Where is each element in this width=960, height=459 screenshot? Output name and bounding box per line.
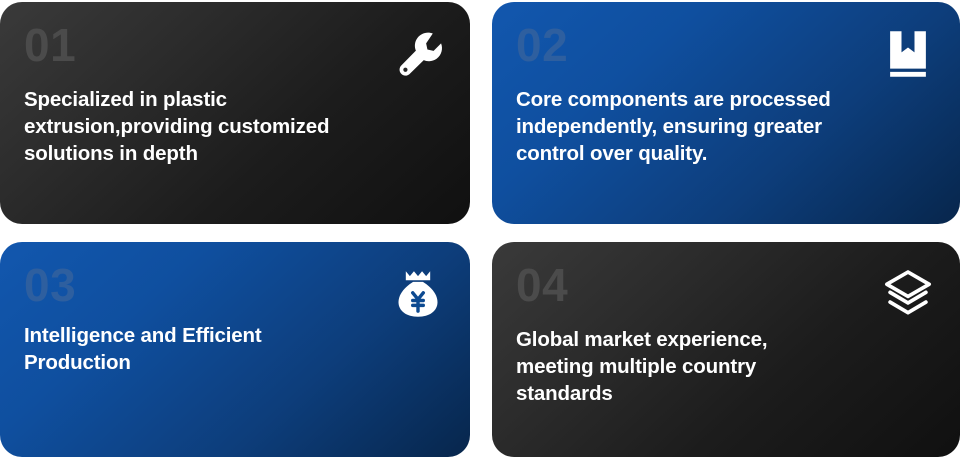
card-number-02: 02 — [516, 24, 936, 68]
feature-card-01[interactable]: 01 Specialized in plastic extrusion,prov… — [0, 2, 470, 224]
card-title-01: Specialized in plastic extrusion,providi… — [24, 86, 446, 167]
feature-card-grid: 01 Specialized in plastic extrusion,prov… — [0, 0, 960, 459]
book-bookmark-icon — [882, 28, 934, 80]
card-number-01: 01 — [24, 24, 446, 68]
card-title-04: Global market experience, meeting multip… — [516, 326, 936, 407]
card-title-03: Intelligence and Efficient Production — [24, 322, 446, 376]
feature-card-04[interactable]: 04 Global market experience, meeting mul… — [492, 242, 960, 457]
layers-stack-icon — [882, 268, 934, 320]
card-number-04: 04 — [516, 264, 936, 308]
card-number-03: 03 — [24, 264, 446, 308]
feature-card-03[interactable]: 03 Intelligence and Efficient Production — [0, 242, 470, 457]
feature-card-02[interactable]: 02 Core components are processed indepen… — [492, 2, 960, 224]
money-bag-yen-icon — [392, 268, 444, 320]
card-title-02: Core components are processed independen… — [516, 86, 936, 167]
wrench-icon — [392, 28, 444, 80]
